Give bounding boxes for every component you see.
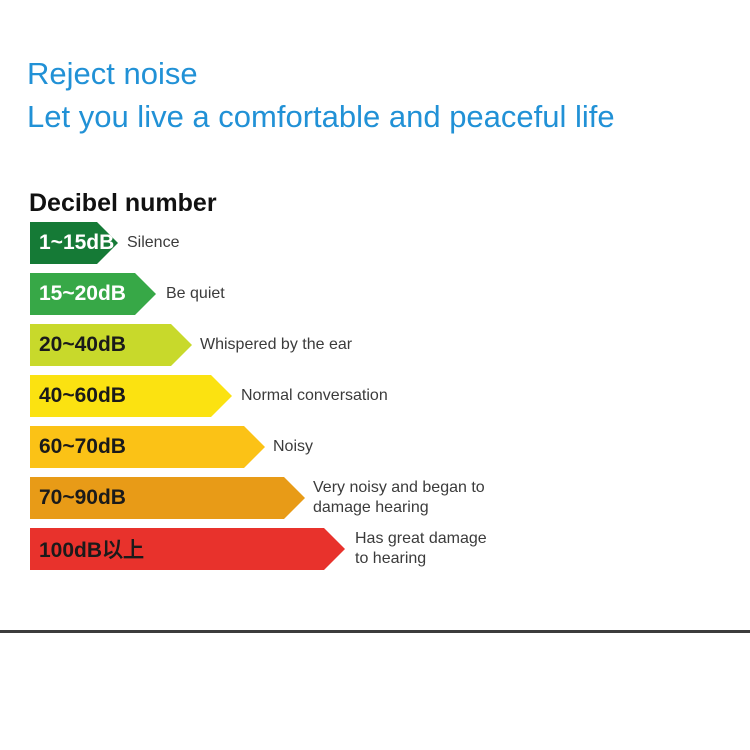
decibel-row: 70~90dB Very noisy and began to damage h… bbox=[0, 477, 750, 528]
decibel-range-label: 1~15dB bbox=[39, 231, 114, 255]
decibel-row: 1~15dB Silence bbox=[0, 222, 750, 273]
decibel-description: Normal conversation bbox=[241, 375, 388, 417]
decibel-description-line-2: damage hearing bbox=[313, 498, 485, 518]
decibel-arrow-15-20db: 15~20dB bbox=[30, 273, 156, 315]
infographic-page: Reject noise Let you live a comfortable … bbox=[0, 0, 750, 750]
decibel-scale-list: 1~15dB Silence 15~20dB Be quiet 20~40dB … bbox=[0, 222, 750, 579]
decibel-row: 15~20dB Be quiet bbox=[0, 273, 750, 324]
decibel-description-line-1: Silence bbox=[127, 233, 179, 253]
decibel-description-line-1: Noisy bbox=[273, 437, 313, 457]
headline-line-1: Reject noise bbox=[27, 52, 737, 95]
decibel-row: 100dB以上 Has great damage to hearing bbox=[0, 528, 750, 579]
decibel-range-label: 20~40dB bbox=[39, 333, 126, 357]
decibel-arrow-100db-and-above: 100dB以上 bbox=[30, 528, 345, 570]
decibel-range-label: 40~60dB bbox=[39, 384, 126, 408]
headline: Reject noise Let you live a comfortable … bbox=[27, 52, 737, 138]
decibel-range-label: 15~20dB bbox=[39, 282, 126, 306]
bottom-divider bbox=[0, 630, 750, 633]
decibel-description: Has great damage to hearing bbox=[355, 528, 487, 570]
decibel-range-label: 100dB以上 bbox=[39, 534, 144, 564]
decibel-row: 40~60dB Normal conversation bbox=[0, 375, 750, 426]
decibel-description: Whispered by the ear bbox=[200, 324, 352, 366]
decibel-row: 60~70dB Noisy bbox=[0, 426, 750, 477]
decibel-description-line-1: Normal conversation bbox=[241, 386, 388, 406]
decibel-arrow-40-60db: 40~60dB bbox=[30, 375, 232, 417]
decibel-description: Silence bbox=[127, 222, 179, 264]
decibel-description: Noisy bbox=[273, 426, 313, 468]
decibel-row: 20~40dB Whispered by the ear bbox=[0, 324, 750, 375]
decibel-description-line-1: Very noisy and began to bbox=[313, 478, 485, 498]
decibel-arrow-70-90db: 70~90dB bbox=[30, 477, 305, 519]
decibel-description: Be quiet bbox=[166, 273, 225, 315]
decibel-range-label: 70~90dB bbox=[39, 486, 126, 510]
headline-line-2: Let you live a comfortable and peaceful … bbox=[27, 95, 737, 138]
decibel-arrow-60-70db: 60~70dB bbox=[30, 426, 265, 468]
decibel-description-line-1: Whispered by the ear bbox=[200, 335, 352, 355]
decibel-range-label: 60~70dB bbox=[39, 435, 126, 459]
decibel-arrow-1-15db: 1~15dB bbox=[30, 222, 118, 264]
decibel-description-line-1: Has great damage bbox=[355, 529, 487, 549]
decibel-description-line-1: Be quiet bbox=[166, 284, 225, 304]
decibel-description-line-2: to hearing bbox=[355, 549, 487, 569]
section-heading: Decibel number bbox=[29, 189, 217, 218]
decibel-arrow-20-40db: 20~40dB bbox=[30, 324, 192, 366]
decibel-description: Very noisy and began to damage hearing bbox=[313, 477, 485, 519]
